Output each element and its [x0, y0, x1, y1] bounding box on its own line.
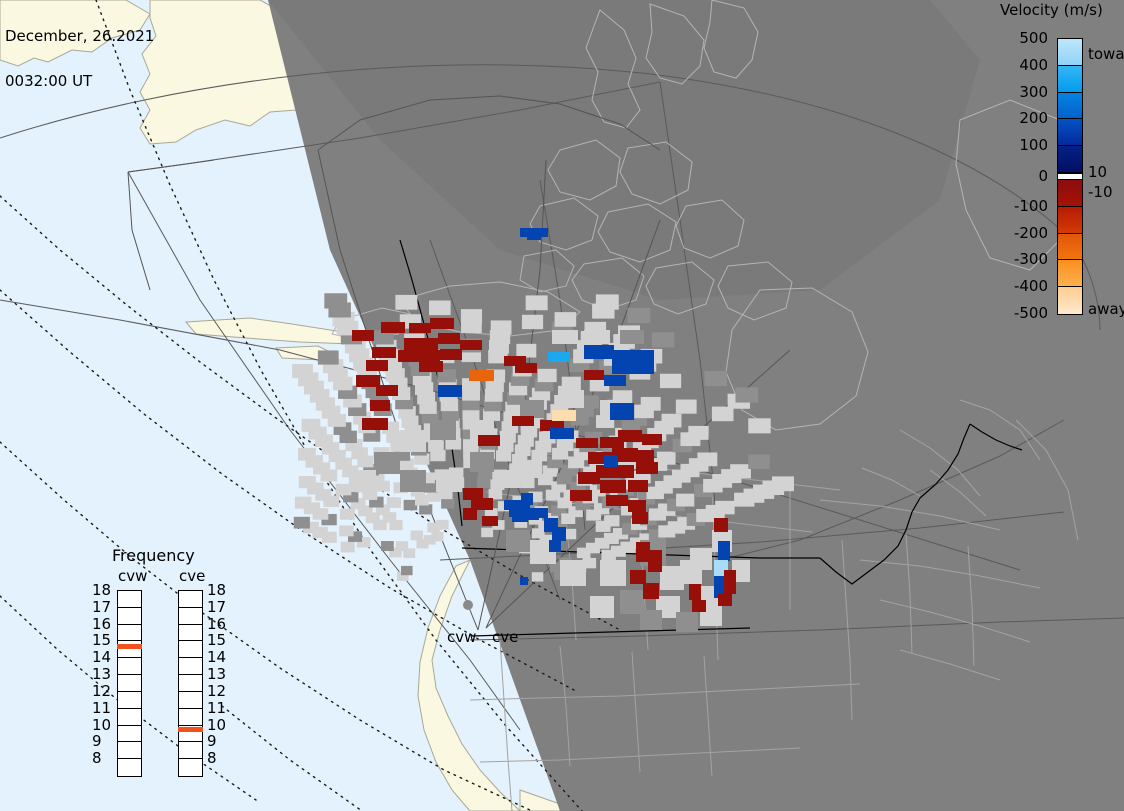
ground-scatter-cell [470, 452, 494, 472]
velocity-cell[interactable] [548, 352, 570, 362]
frequency-tick-label: 13 [92, 665, 111, 683]
frequency-tick-label: 17 [207, 598, 226, 616]
velocity-cell[interactable] [612, 350, 654, 374]
frequency-tick-label: 9 [92, 732, 102, 750]
ground-scatter-cell [302, 419, 321, 432]
velocity-band [1058, 66, 1082, 93]
velocity-cell[interactable] [520, 577, 528, 585]
velocity-cell[interactable] [689, 584, 701, 600]
frequency-cell [179, 675, 202, 692]
velocity-cell[interactable] [584, 345, 614, 359]
frequency-cell [179, 608, 202, 625]
velocity-cell[interactable] [632, 512, 648, 524]
velocity-cell[interactable] [440, 349, 462, 360]
frequency-tick-label: 15 [207, 631, 226, 649]
ground-scatter-cell [506, 530, 530, 552]
frequency-bar-cve[interactable] [178, 590, 203, 777]
velocity-cell[interactable] [398, 350, 440, 362]
velocity-cell[interactable] [463, 508, 477, 520]
ground-scatter-cell [520, 400, 544, 418]
velocity-cell[interactable] [366, 360, 388, 371]
ground-scatter-cell [735, 387, 758, 402]
velocity-cell[interactable] [438, 385, 462, 397]
ground-scatter-cell [604, 515, 619, 526]
ground-scatter-cell [560, 390, 584, 408]
ground-scatter-cell [299, 476, 316, 488]
velocity-cell[interactable] [552, 527, 566, 541]
velocity-band [1058, 93, 1082, 120]
velocity-cell[interactable] [584, 370, 604, 380]
velocity-inner-high-label: 10 [1088, 163, 1107, 181]
velocity-cell[interactable] [552, 410, 576, 421]
velocity-cell[interactable] [549, 540, 561, 552]
frequency-cell [179, 709, 202, 726]
ground-scatter-cell [627, 308, 650, 323]
velocity-cell[interactable] [606, 495, 628, 506]
ground-scatter-cell [498, 470, 520, 488]
velocity-tick-label: 300 [1019, 83, 1048, 101]
frequency-cell [118, 692, 141, 709]
frequency-tick-label: 16 [92, 615, 111, 633]
frequency-tick-label: 10 [92, 716, 111, 734]
ground-scatter-cell [436, 520, 448, 530]
velocity-cell[interactable] [550, 428, 574, 439]
site-label-cvw: cvw [447, 628, 476, 646]
title-date: December, 26.2021 [5, 29, 154, 44]
ground-scatter-cell [411, 531, 423, 541]
frequency-cell [118, 675, 141, 692]
ground-scatter-cell [584, 330, 610, 344]
frequency-column-header-cvw: cvw [118, 567, 147, 585]
velocity-cell[interactable] [642, 434, 662, 445]
frequency-tick-label: 16 [207, 615, 226, 633]
ground-scatter-cell [730, 464, 751, 478]
ground-scatter-cell [690, 548, 712, 570]
velocity-cell[interactable] [604, 375, 626, 386]
ground-scatter-cell [657, 452, 676, 465]
velocity-tick-label: 200 [1019, 109, 1048, 127]
velocity-colorbar-panel: Velocity (m/s) 5004003002001000-100-200-… [990, 0, 1124, 330]
velocity-cell[interactable] [527, 508, 539, 520]
frequency-cell [118, 726, 141, 743]
ground-scatter-cell [396, 541, 408, 551]
ground-scatter-cell [640, 610, 662, 630]
velocity-cell[interactable] [430, 318, 454, 329]
frequency-tick-label: 9 [207, 732, 217, 750]
ground-scatter-cell [748, 454, 770, 469]
velocity-cell[interactable] [370, 400, 390, 411]
ground-scatter-cell [620, 330, 644, 344]
velocity-cell[interactable] [527, 233, 541, 240]
ground-scatter-cell [339, 526, 353, 537]
ground-scatter-cell [522, 315, 543, 329]
frequency-bar-cvw[interactable] [117, 590, 142, 777]
frequency-tick-label: 15 [92, 631, 111, 649]
velocity-band [1058, 260, 1082, 287]
velocity-cell[interactable] [515, 363, 537, 373]
frequency-tick-label: 8 [207, 749, 217, 767]
velocity-cell[interactable] [618, 430, 642, 442]
ground-scatter-cell [662, 414, 682, 428]
velocity-band [1058, 119, 1082, 146]
velocity-away-label: away [1088, 300, 1124, 318]
velocity-cell[interactable] [578, 472, 600, 484]
ground-scatter-cell [292, 364, 313, 378]
velocity-cell[interactable] [636, 462, 658, 474]
velocity-tick-label: 100 [1019, 136, 1048, 154]
frequency-tick-label: 18 [207, 581, 226, 599]
frequency-marker-cvw [117, 644, 142, 649]
velocity-inner-low-label: -10 [1088, 183, 1113, 201]
frequency-cell [118, 658, 141, 675]
ground-scatter-cell [600, 560, 626, 586]
velocity-cell[interactable] [381, 322, 405, 333]
ground-scatter-cell [427, 491, 441, 501]
ground-scatter-cell [401, 566, 413, 575]
ground-scatter-cell [381, 541, 394, 551]
velocity-cell[interactable] [628, 480, 648, 492]
ground-scatter-cell [477, 477, 491, 488]
velocity-toward-label: toward [1088, 45, 1124, 63]
ground-scatter-cell [516, 344, 536, 358]
velocity-band [1058, 39, 1082, 66]
velocity-cell[interactable] [628, 500, 646, 512]
timestamp-title: December, 26.2021 0032:00 UT [5, 0, 154, 119]
velocity-cell[interactable] [460, 340, 482, 350]
velocity-cell[interactable] [600, 480, 626, 493]
velocity-cell[interactable] [504, 500, 522, 510]
ground-scatter-cell [520, 460, 542, 478]
velocity-cell[interactable] [362, 418, 388, 430]
frequency-cell [118, 759, 141, 776]
frequency-tick-label: 12 [207, 682, 226, 700]
ground-scatter-cell [441, 498, 454, 508]
velocity-colorbar[interactable] [1057, 38, 1083, 315]
frequency-cell [118, 608, 141, 625]
frequency-tick-label: 11 [207, 699, 226, 717]
radar-site-marker[interactable] [463, 600, 473, 610]
velocity-cell[interactable] [718, 541, 730, 561]
velocity-cell[interactable] [419, 361, 443, 372]
velocity-band [1058, 287, 1082, 314]
ground-scatter-cell [676, 612, 698, 632]
ground-scatter-cell [298, 448, 316, 461]
velocity-tick-label: 0 [1038, 167, 1048, 185]
ground-scatter-cell [596, 294, 619, 309]
velocity-cell[interactable] [632, 450, 654, 462]
ground-scatter-cell [336, 484, 352, 496]
frequency-legend-title: Frequency [112, 546, 195, 565]
frequency-tick-label: 12 [92, 682, 111, 700]
frequency-tick-label: 14 [207, 648, 226, 666]
velocity-band [1058, 146, 1082, 173]
velocity-cell[interactable] [648, 550, 662, 572]
radar-map-figure: cvw cve December, 26.2021 0032:00 UT Vel… [0, 0, 1124, 811]
ground-scatter-cell [295, 497, 312, 509]
velocity-tick-label: 400 [1019, 56, 1048, 74]
ground-scatter-cell [430, 420, 456, 440]
velocity-cell[interactable] [604, 455, 618, 467]
velocity-cell[interactable] [438, 333, 460, 344]
velocity-cell[interactable] [469, 370, 494, 381]
ground-scatter-cell [374, 452, 400, 474]
velocity-cell[interactable] [409, 323, 431, 333]
ground-scatter-cell [688, 426, 708, 440]
ground-scatter-cell [429, 301, 451, 316]
frequency-tick-label: 14 [92, 648, 111, 666]
velocity-tick-label: -400 [1014, 277, 1048, 295]
frequency-cell [179, 625, 202, 642]
frequency-cell [179, 591, 202, 608]
frequency-cell [118, 742, 141, 759]
ground-scatter-cell [350, 470, 376, 492]
frequency-tick-label: 11 [92, 699, 111, 717]
ground-scatter-cell [489, 489, 503, 499]
velocity-cell[interactable] [512, 512, 528, 522]
ground-scatter-cell [590, 596, 614, 618]
velocity-band [1058, 180, 1082, 207]
ground-scatter-cell [400, 470, 426, 492]
frequency-tick-label: 18 [92, 581, 111, 599]
frequency-cell [118, 709, 141, 726]
velocity-cell[interactable] [538, 508, 548, 518]
velocity-cell[interactable] [478, 435, 500, 446]
velocity-cell[interactable] [570, 490, 592, 501]
velocity-band [1058, 234, 1082, 261]
ground-scatter-cell [400, 430, 426, 452]
ground-scatter-cell [538, 369, 557, 382]
velocity-tick-label: -100 [1014, 197, 1048, 215]
ground-scatter-cell [555, 312, 577, 327]
frequency-cell [179, 658, 202, 675]
ground-scatter-cell [395, 295, 417, 310]
velocity-cell[interactable] [372, 347, 396, 358]
frequency-tick-label: 10 [207, 716, 226, 734]
frequency-tick-label: 13 [207, 665, 226, 683]
ground-scatter-cell [526, 295, 548, 310]
velocity-cell[interactable] [630, 570, 646, 584]
ground-scatter-cell [676, 400, 697, 414]
velocity-tick-label: -200 [1014, 224, 1048, 242]
ground-scatter-cell [748, 418, 770, 433]
ground-scatter-cell [340, 509, 355, 520]
frequency-cell [118, 625, 141, 642]
velocity-cell[interactable] [718, 594, 732, 606]
ground-scatter-cell [491, 320, 512, 334]
ground-scatter-cell [415, 495, 429, 505]
velocity-band [1058, 207, 1082, 234]
frequency-cell [179, 641, 202, 658]
ground-scatter-cell [676, 494, 694, 507]
velocity-cell[interactable] [404, 338, 438, 350]
velocity-cell[interactable] [512, 416, 534, 426]
ground-scatter-cell [481, 528, 493, 538]
ground-scatter-cell [715, 501, 735, 515]
frequency-cell [179, 742, 202, 759]
ground-scatter-cell [712, 407, 734, 422]
ground-scatter-cell [652, 332, 674, 347]
ground-scatter-cell [697, 452, 717, 466]
velocity-cell[interactable] [482, 516, 498, 526]
frequency-cell [179, 692, 202, 709]
velocity-cell[interactable] [576, 438, 598, 448]
frequency-legend-panel: Frequency cvw cve 18171615141312111098 1… [60, 546, 240, 786]
title-time: 0032:00 UT [5, 74, 154, 89]
velocity-cell[interactable] [724, 570, 736, 594]
ground-scatter-cell [532, 572, 544, 581]
ground-scatter-cell [419, 504, 432, 514]
velocity-cell[interactable] [610, 403, 634, 420]
ground-scatter-cell [552, 330, 578, 344]
frequency-cell [179, 759, 202, 776]
ground-scatter-cell [431, 532, 443, 542]
velocity-tick-label: 500 [1019, 29, 1048, 47]
site-label-cve: cve [492, 628, 518, 646]
ground-scatter-cell [562, 377, 581, 390]
ground-scatter-cell [772, 476, 794, 491]
ground-scatter-cell [324, 293, 347, 308]
ground-scatter-cell [705, 371, 727, 386]
ground-scatter-cell [294, 517, 310, 529]
frequency-column-header-cve: cve [179, 567, 205, 585]
velocity-cell[interactable] [636, 542, 650, 562]
velocity-band [1058, 173, 1082, 180]
frequency-tick-label: 17 [92, 598, 111, 616]
frequency-cell [118, 591, 141, 608]
velocity-cell[interactable] [692, 600, 706, 612]
ground-scatter-cell [520, 477, 534, 488]
velocity-cell[interactable] [714, 518, 728, 532]
velocity-cell[interactable] [352, 330, 374, 341]
velocity-cell[interactable] [643, 583, 659, 599]
frequency-tick-label: 8 [92, 749, 102, 767]
ground-scatter-cell [436, 470, 462, 492]
ground-scatter-cell [461, 309, 482, 323]
velocity-colorbar-title: Velocity (m/s) [1000, 1, 1103, 19]
ground-scatter-cell [318, 350, 339, 364]
ground-scatter-cell [387, 497, 401, 508]
ground-scatter-cell [660, 374, 681, 388]
ground-scatter-cell [560, 560, 586, 586]
ground-scatter-cell [641, 397, 661, 411]
velocity-tick-label: -500 [1014, 304, 1048, 322]
velocity-cell[interactable] [376, 385, 398, 396]
frequency-marker-cve [178, 727, 203, 732]
ground-scatter-cell [341, 542, 355, 553]
velocity-tick-label: -300 [1014, 250, 1048, 268]
